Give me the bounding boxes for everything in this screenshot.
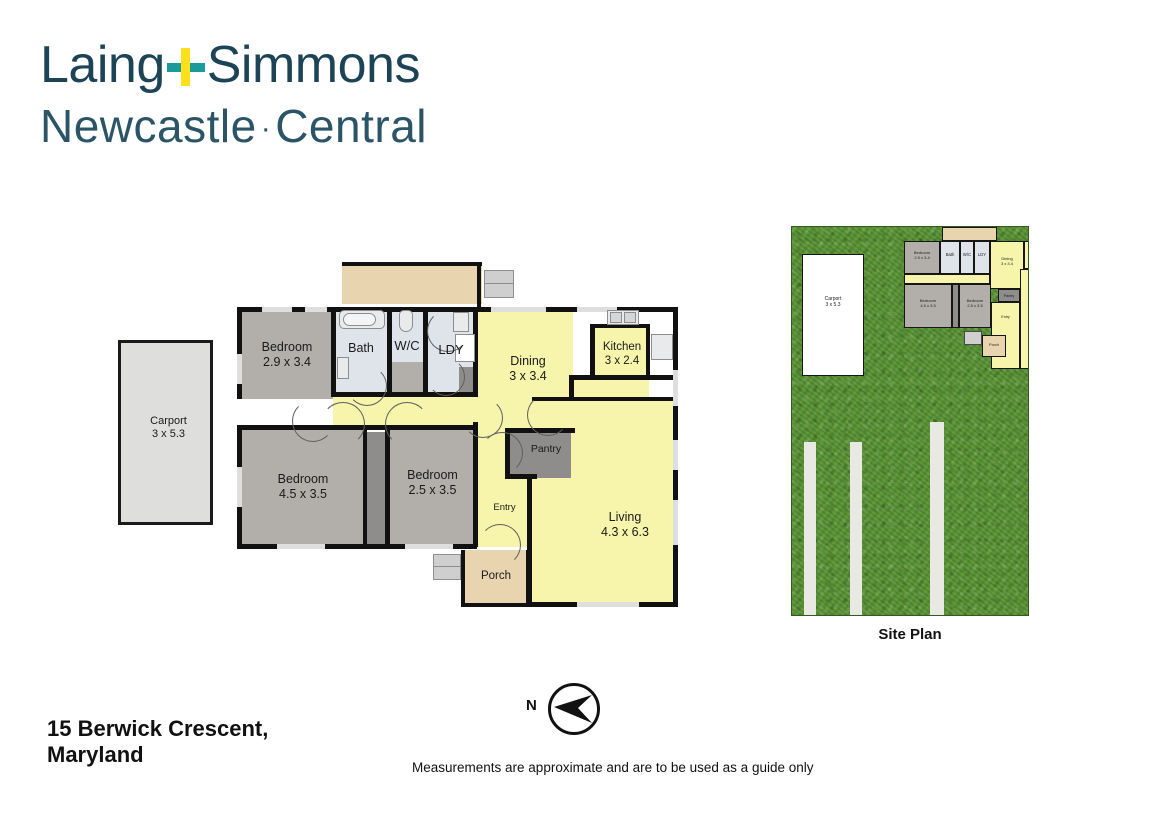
living-fill: [573, 400, 677, 605]
mini-rear-deck: [942, 227, 997, 241]
kitchen-dims: 3 x 2.4: [605, 355, 640, 367]
pantry-label: Pantry: [520, 443, 572, 455]
wall-deck-top: [342, 262, 482, 266]
mini-carport: Carport 3 x 5.3: [802, 254, 864, 376]
address-line2: Maryland: [47, 742, 407, 768]
bathtub-inner-icon: [343, 313, 376, 326]
compass-north-label: N: [526, 697, 537, 714]
wall-kitchen-bottom: [569, 375, 677, 380]
door-linen: [481, 432, 523, 474]
plus-icon: [165, 44, 207, 88]
bedroom3-label: Bedroom 2.5 x 3.5: [390, 468, 475, 498]
disclaimer-text: Measurements are approximate and are to …: [412, 760, 882, 775]
bedroom2-dims: 4.5 x 3.5: [279, 487, 327, 501]
driveway-strip-left: [804, 442, 816, 616]
window-bed1-top: [262, 307, 292, 312]
bedroom3-dims: 2.5 x 3.5: [409, 483, 457, 497]
mini-wc: W/C: [960, 241, 974, 274]
mini-bath: Bath: [940, 241, 960, 274]
living-lower-fill: [530, 475, 580, 605]
door-bedroom3: [385, 402, 429, 446]
compass-arrow-icon: [548, 683, 600, 735]
living-label: Living 4.3 x 6.3: [573, 510, 677, 540]
brand-name-part1: Laing: [40, 36, 165, 94]
vanity-icon: [337, 357, 349, 379]
door-bath: [347, 366, 387, 406]
carport-name: Carport: [150, 415, 187, 427]
bedroom1-name: Bedroom: [262, 340, 313, 354]
brand-name-part2: Simmons: [207, 36, 420, 94]
bedroom1-dims: 2.9 x 3.4: [263, 355, 311, 369]
driveway-strip-right: [850, 442, 862, 616]
wall-deck-right: [477, 262, 481, 310]
living-dims: 4.3 x 6.3: [601, 525, 649, 539]
door-bedroom2: [321, 402, 365, 446]
property-address: 15 Berwick Crescent, Maryland: [47, 716, 407, 768]
main-floor-plan: Bedroom 2.9 x 3.4 Bedroom 4.5 x 3.5 Bedr…: [237, 262, 689, 620]
window-dining-top: [491, 307, 546, 312]
door-living: [527, 394, 569, 436]
porch-label: Porch: [465, 570, 527, 584]
company-logo: LaingSimmons Newcastle·Central: [40, 36, 480, 176]
bedroom1-label: Bedroom 2.9 x 3.4: [241, 340, 333, 370]
door-dining: [463, 398, 503, 438]
shower-tray-fill: [389, 362, 425, 392]
mini-house: Bedroom 2.9 x 3.4 Bath W/C LDY Dining 3 …: [902, 227, 1024, 419]
door-wc: [427, 358, 465, 396]
bedroom2-label: Bedroom 4.5 x 3.5: [240, 472, 366, 502]
mini-bedroom3: Bedroom 2.5 x 3.5: [959, 284, 991, 328]
mini-bedroom2: Bedroom 4.5 x 3.5: [904, 284, 952, 328]
mini-kitchen: Kitchen 3 x 2.4: [1024, 241, 1029, 269]
compass-rose: N: [548, 683, 600, 735]
carport-label: Carport 3 x 5.3: [121, 415, 216, 441]
bedroom2-robe-fill: [367, 432, 387, 545]
window-bed2-bottom: [277, 544, 325, 549]
path-walkway: [930, 422, 944, 616]
mini-ldy: LDY: [974, 241, 990, 274]
dining-dims: 3 x 3.4: [509, 369, 547, 383]
brand-wordmark: LaingSimmons: [40, 36, 480, 94]
mini-pantry: Pantry: [998, 289, 1020, 302]
mini-carport-label: Carport 3 x 5.3: [803, 297, 863, 309]
cooktop-icon: [651, 334, 673, 360]
kitchen-label: Kitchen 3 x 2.4: [592, 341, 652, 368]
office-separator: ·: [257, 112, 276, 145]
living-name: Living: [609, 510, 642, 524]
kitchen-sink-bowl1-icon: [610, 312, 622, 323]
wc-label: W/C: [389, 338, 425, 353]
site-plan-title: Site Plan: [791, 626, 1029, 643]
window-bed3-bottom: [405, 544, 453, 549]
mini-living: Living 4.3 x 6.3: [1020, 269, 1029, 369]
kitchen-name: Kitchen: [603, 341, 641, 353]
rear-deck-fill: [342, 264, 482, 304]
carport-block: Carport 3 x 5.3: [118, 340, 213, 525]
brand-office-line: Newcastle·Central: [40, 98, 480, 157]
dining-name: Dining: [510, 354, 545, 368]
window-kitchen-right: [673, 370, 678, 406]
bedroom3-name: Bedroom: [407, 468, 458, 482]
mini-robe: [952, 284, 959, 328]
office-name-part1: Newcastle: [40, 100, 257, 152]
window-living-right-upper: [673, 440, 678, 470]
porch-steps-line-icon: [433, 554, 461, 567]
dining-label: Dining 3 x 3.4: [481, 354, 575, 384]
door-entry: [479, 524, 521, 566]
office-name-part2: Central: [275, 100, 427, 152]
wall-entry-right: [527, 477, 532, 605]
entry-label: Entry: [477, 502, 532, 513]
rear-steps-line-icon: [484, 270, 514, 284]
bath-label: Bath: [335, 341, 387, 356]
mini-bedroom1: Bedroom 2.9 x 3.4: [904, 241, 940, 274]
address-line1: 15 Berwick Crescent,: [47, 716, 407, 742]
toilet-icon: [399, 310, 413, 332]
wall-porch-bottom: [461, 603, 531, 607]
window-living-bottom: [577, 602, 639, 607]
carport-dims: 3 x 5.3: [152, 428, 185, 440]
site-plan: Carport 3 x 5.3 Bedroom 2.9 x 3.4 Bath W…: [791, 226, 1029, 616]
bedroom2-name: Bedroom: [278, 472, 329, 486]
mini-dining: Dining 3 x 3.4: [990, 241, 1024, 289]
ldy-label: LDY: [427, 342, 475, 357]
kitchen-sink-bowl2-icon: [624, 312, 636, 323]
mini-porch-steps: [964, 331, 982, 345]
mini-hallway: [904, 274, 990, 284]
window-bed1-top2: [305, 307, 327, 312]
mini-porch: Porch: [982, 335, 1006, 357]
